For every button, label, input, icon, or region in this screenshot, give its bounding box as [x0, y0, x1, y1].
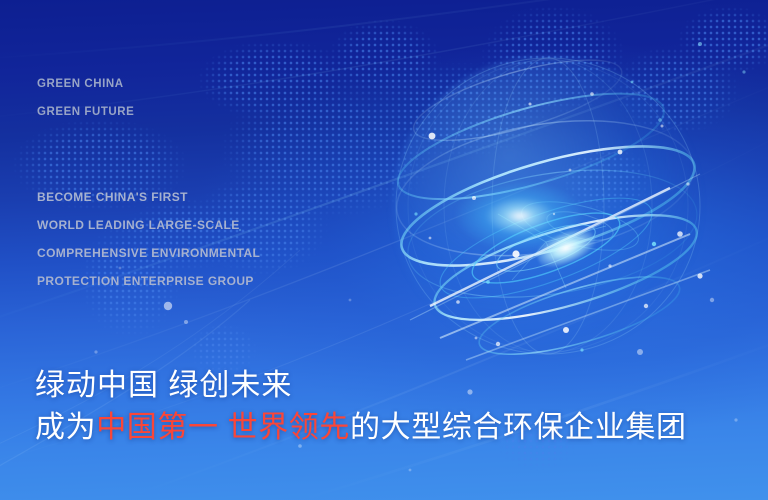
- subheading-line-3: COMPREHENSIVE ENVIRONMENTAL: [37, 239, 260, 267]
- headline-block: 绿动中国 绿创未来 成为中国第一世界领先的大型综合环保企业集团: [35, 366, 687, 450]
- subheading-line-4: PROTECTION ENTERPRISE GROUP: [37, 267, 260, 295]
- headline-line-1: 绿动中国 绿创未来: [35, 366, 687, 406]
- eyebrow-line-2: GREEN FUTURE: [37, 98, 134, 126]
- eyebrow-line-1: GREEN CHINA: [37, 70, 134, 98]
- eyebrow-text-block: GREEN CHINA GREEN FUTURE: [37, 70, 134, 126]
- headline-suffix: 的大型综合环保企业集团: [350, 411, 687, 444]
- subheading-text-block: BECOME CHINA'S FIRST WORLD LEADING LARGE…: [37, 183, 260, 295]
- headline-line-2: 成为中国第一世界领先的大型综合环保企业集团: [35, 406, 687, 450]
- promotional-banner: GREEN CHINA GREEN FUTURE BECOME CHINA'S …: [0, 0, 768, 500]
- headline-highlight-china-first: 中国第一: [96, 411, 218, 444]
- headline-prefix: 成为: [35, 411, 96, 444]
- subheading-line-2: WORLD LEADING LARGE-SCALE: [37, 211, 260, 239]
- subheading-line-1: BECOME CHINA'S FIRST: [37, 183, 260, 211]
- headline-highlight-world-leading: 世界领先: [228, 411, 350, 444]
